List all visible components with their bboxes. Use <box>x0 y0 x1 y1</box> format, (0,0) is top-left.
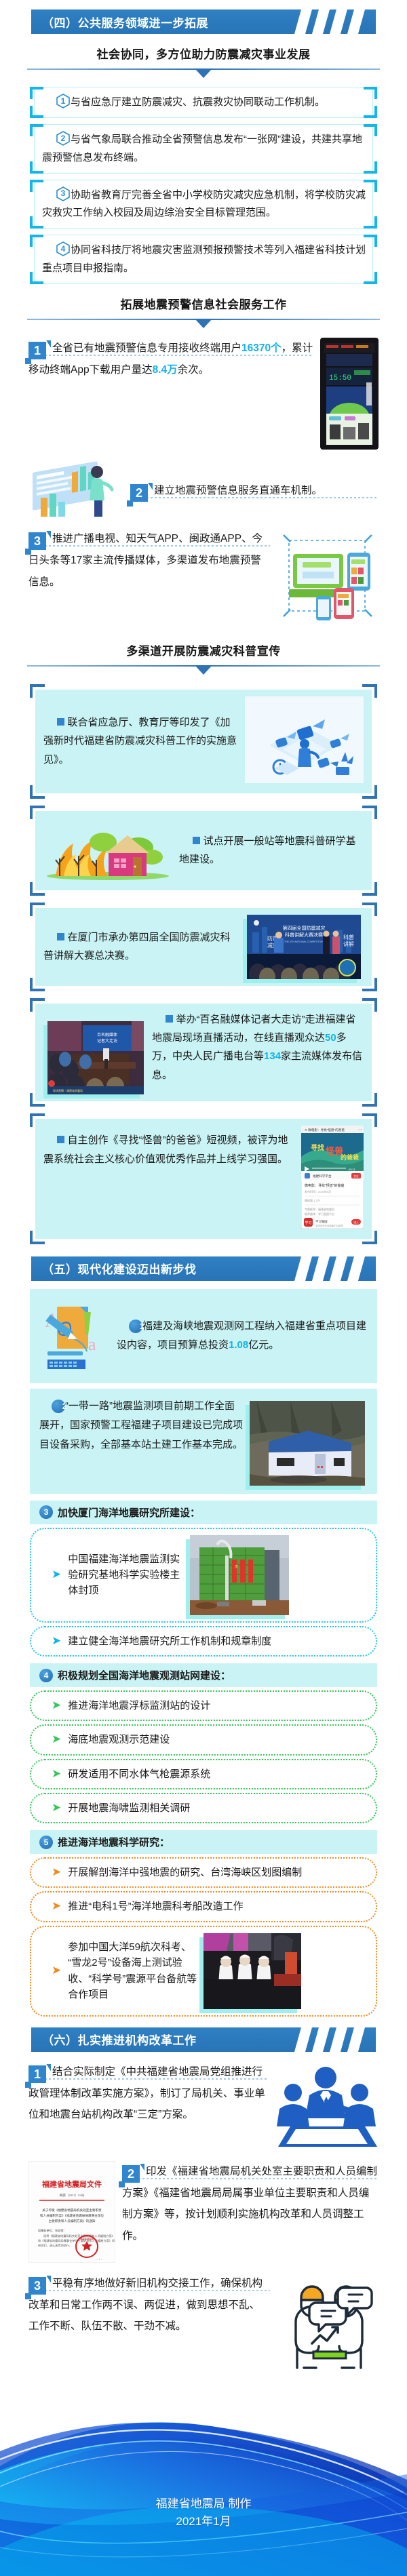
hexagon-number-icon: 1 <box>56 94 70 108</box>
text-run: 平稳有序地做好新旧机构交接工作，确保机构改革和日常工作两不误、两促进，做到思想不… <box>28 2278 263 2333</box>
circle-number-badge: 4 <box>39 1669 53 1682</box>
section5-group-5-item-2: ➤ 推进“电科1号”海洋地震科考船改造工作 <box>30 1891 377 1922</box>
circle-number-badge: 5 <box>39 1836 53 1849</box>
card-bottom-line <box>34 283 373 284</box>
chevron-right-icon: ➤ <box>52 1633 61 1649</box>
card-top-line <box>34 235 373 235</box>
item-text: 海底地震观测示范建设 <box>68 1732 366 1747</box>
corner-bracket-icon <box>30 161 43 174</box>
section-banner-five-title: （五）现代化建设迈出新步伐 <box>31 1260 197 1277</box>
svg-text:✕ 微电影：寻找"怪兽"的爸爸: ✕ 微电影：寻找"怪兽"的爸爸 <box>305 1128 345 1132</box>
divider-rule <box>27 66 380 81</box>
text-run: 建立地震预警信息服务直通车机制。 <box>154 485 322 496</box>
square-bullet-icon <box>166 1015 173 1023</box>
item-text: 建立健全海洋地震研究所工作机制和规章制度 <box>68 1633 366 1649</box>
circle-number-badge: 3 <box>39 1505 53 1519</box>
construction-site-photo: 庆 <box>190 1535 289 1615</box>
group-title: 加快厦门海洋地震研究所建设： <box>58 1505 200 1520</box>
card-top-line <box>34 124 373 125</box>
warning-service-item-3: 3推进广播电视、知天气APP、闽政通APP、今日头条等17家主流传播媒体，多渠道… <box>28 528 379 627</box>
corner-bracket-icon <box>30 124 43 136</box>
highlight-value: 134 <box>264 1050 281 1062</box>
card-inner: 试点开展一般站等地震科普研学基地建设。 <box>35 811 372 890</box>
number-badge: 1 <box>28 342 46 359</box>
text-run: 结合实际制定《中共福建省地震局党组推进行政管理体制改革实施方案》，制订了局机关、… <box>28 2066 265 2121</box>
card-text: 与省气象局联合推动全省预警信息发布“一张网”建设，共建共享地震预警信息发布终端。 <box>42 134 362 163</box>
footer-credit: 福建省地震局 制作 2021年1月 <box>0 2495 407 2531</box>
section5-group-4-header: 4 积极规划全国海洋地震观测站网建设： <box>30 1663 377 1687</box>
section-banner-six: （六）扎实推进机构改革工作 <box>31 2027 376 2052</box>
card-inner: 自主创作《寻找“怪兽”的爸爸》短视频，被评为地震系统社会主义核心价值观优秀作品并… <box>35 1119 372 1239</box>
svg-text:百名融媒体: 百名融媒体 <box>97 1032 117 1037</box>
svg-text:进入: 进入 <box>353 1221 359 1224</box>
number-badge: 3 <box>28 2277 46 2295</box>
card-bottom-line <box>34 228 373 229</box>
section5-group-3-item-1: ➤ 中国福建海洋地震监测实验研究基地科学实验楼主体封顶 庆 <box>30 1528 377 1623</box>
bottom-spacer <box>0 2379 407 2386</box>
hexagon-number-icon: 2 <box>56 131 70 146</box>
design-tools-illustration: A a <box>39 1297 110 1375</box>
hexagon-number-icon: 4 <box>56 241 70 256</box>
divider-rule <box>27 662 380 677</box>
chevron-right-icon: ➤ <box>52 1766 61 1782</box>
svg-text:和人员编制方案》《福建省地震局局属事业单位: 和人员编制方案》《福建省地震局局属事业单位 <box>40 2213 104 2218</box>
item-text: 2“一带一路”地震监测项目前期工作全面展开，国家预警工程福建子项目建设已完成项目… <box>39 1397 243 1455</box>
photo-image: 第四届全国防震减灾 科普讲解大赛决赛 THE 4TH NATIONAL COMP… <box>247 915 361 979</box>
item-text: 2印发《福建省地震局机关处室主要职责和人员编制方案》《福建省地震局局属事业单位主… <box>122 2161 379 2248</box>
number-badge: 1 <box>28 2065 46 2083</box>
card-body: 2 与省气象局联合推动全省预警信息发布“一张网”建设，共建共享地震预警信息发布终… <box>42 131 366 167</box>
square-bullet-icon <box>57 1136 64 1143</box>
section5-group-5-item-1: ➤ 开展解剖海洋中强地震的研究、台湾海峡区划图编制 <box>30 1857 377 1888</box>
chevron-right-icon: ➤ <box>52 1567 61 1583</box>
divider-caret-icon <box>195 68 212 78</box>
short-video-app-screenshot: ✕ 微电影：寻找"怪兽"的爸爸 ⋯ 寻找 怪兽 的爸爸 05:11 福建科学平台… <box>301 1126 364 1232</box>
section5-group-4-item-2: ➤ 海底地震观测示范建设 <box>30 1724 377 1755</box>
svg-text:⋯: ⋯ <box>358 1128 362 1132</box>
circle-number-badge: 1 <box>129 1320 142 1333</box>
science-popularization-item-5: 自主创作《寻找“怪兽”的爸爸》短视频，被评为地震系统社会主义核心价值观优秀作品并… <box>30 1113 377 1244</box>
divider-caret-icon <box>195 665 212 675</box>
chevron-right-icon: ➤ <box>52 1698 61 1713</box>
svg-text:全国优秀作品展播平台推荐: 全国优秀作品展播平台推荐 <box>315 1224 343 1227</box>
group-title: 积极规划全国海洋地震观测站网建设： <box>58 1668 231 1682</box>
section6-item-2: 福建省地震局文件 闽震〔2021〕04号 关于印发《福建省地震局机关处室主要职责… <box>28 2161 379 2266</box>
contest-stage-photo: 第四届全国防震减灾 科普讲解大赛决赛 THE 4TH NATIONAL COMP… <box>247 915 361 979</box>
svg-text:科普: 科普 <box>343 934 354 940</box>
svg-text:发布时间：2020年5月: 发布时间：2020年5月 <box>305 1189 331 1193</box>
section5-item-1: A a 1福建及海峡地震观测网工程纳入福建省重点项目建设内容，项目预算总投资1.… <box>30 1289 377 1383</box>
item-text: 自主创作《寻找“怪兽”的爸爸》短视频，被评为地震系统社会主义核心价值观优秀作品并… <box>43 1126 294 1169</box>
bracket-card: 2 与省气象局联合推动全省预警信息发布“一张网”建设，共建共享地震预警信息发布终… <box>30 124 377 174</box>
svg-text:现场直播｜福建省地震局: 现场直播｜福建省地震局 <box>53 1088 83 1092</box>
science-popularization-item-3: 在厦门市承办第四届全国防震减灾科普讲解大赛总决赛。 第四届全国防震减灾 科普讲解… <box>30 903 377 991</box>
section-banner-six-title: （六）扎实推进机构改革工作 <box>31 2031 197 2048</box>
banner-slashes-icon <box>294 2027 376 2052</box>
svg-text:关于印发《福建省地震局机关处室主要职责: 关于印发《福建省地震局机关处室主要职责 <box>42 2208 102 2213</box>
card-top-line <box>34 180 373 180</box>
square-bullet-icon <box>57 933 64 940</box>
square-bullet-icon <box>193 837 200 844</box>
photo-image: 庆 <box>190 1535 289 1615</box>
text-run: 联合省应急厅、教育厅等印发了《加强新时代福建省防震减灾科普工作的实施意见》。 <box>43 717 237 766</box>
svg-text:寻找: 寻找 <box>311 1143 324 1152</box>
svg-text:THE 4TH NATIONAL COMPETITION: THE 4TH NATIONAL COMPETITION <box>284 940 324 943</box>
card-inner: 百名融媒体 记者大走访 <box>35 1004 372 1101</box>
card-text: 与省应急厅建立防震减灾、抗震救灾协同联动工作机制。 <box>71 96 325 108</box>
photo-image: 百名融媒体 记者大走访 <box>47 1021 144 1094</box>
item-text: 1福建及海峡地震观测网工程纳入福建省重点项目建设内容，项目预算总投资1.08亿元… <box>117 1317 368 1355</box>
card-inner: 联合省应急厅、教育厅等印发了《加强新时代福建省防震减灾科普工作的实施意见》。 <box>35 690 372 793</box>
highlight-value: 1.08 <box>229 1339 248 1351</box>
svg-text:现将《福建省地震局机关处室主要职责和人员编制方案》: 现将《福建省地震局机关处室主要职责和人员编制方案》 <box>43 2234 115 2238</box>
discussion-people-icon <box>277 2273 379 2377</box>
number-badge: 3 <box>28 532 46 550</box>
item-text: 1全省已有地震预警信息专用接收终端用户16370个，累计移动终端App下载用户量… <box>28 338 313 382</box>
text-run: 印发《福建省地震局机关处室主要职责和人员编制方案》《福建省地震局局属事业单位主要… <box>122 2166 377 2242</box>
footer-wave-graphic <box>0 2386 407 2576</box>
text-run: “一带一路”地震监测项目前期工作全面展开，国家预警工程福建子项目建设已完成项目设… <box>39 1400 243 1450</box>
number-badge: 2 <box>130 484 148 502</box>
svg-text:闽震〔2021〕04号: 闽震〔2021〕04号 <box>60 2193 85 2198</box>
item-text: 3推进广播电视、知天气APP、闽政通APP、今日头条等17家主流传播媒体，多渠道… <box>28 528 270 594</box>
item-text: 3平稳有序地做好新旧机构交接工作，确保机构改革和日常工作两不误、两促进，做到思想… <box>28 2273 270 2339</box>
item-text: 举办“百名融媒体记者大走访”走进福建省地震局现场直播活动，在线直播观众达50多万… <box>152 1010 364 1084</box>
subheading-social-collaboration: 社会协同，多方位助力防震减灾事业发展 <box>0 45 407 62</box>
meeting-people-icon <box>275 2061 379 2154</box>
section5-group-4-item-4: ➤ 开展地震海啸监测相关调研 <box>30 1793 377 1823</box>
svg-text:05:11: 05:11 <box>349 1168 355 1171</box>
bracket-card: 1 与省应急厅建立防震减灾、抗震救灾协同联动工作机制。 <box>30 87 377 118</box>
section-banner-four-title: （四）公共服务领域进一步拓展 <box>31 14 208 31</box>
wildfire-house-illustration <box>43 818 172 884</box>
card-bottom-line <box>34 173 373 174</box>
item-text: 开展解剖海洋中强地震的研究、台湾海峡区划图编制 <box>68 1865 366 1880</box>
hexagon-number-icon: 3 <box>56 186 70 201</box>
svg-text:第四届全国防震减灾: 第四届全国防震减灾 <box>283 925 326 931</box>
corner-bracket-icon <box>30 87 43 99</box>
subheading-science-popularization: 多渠道开展防震减灾科普宣传 <box>0 641 407 658</box>
banner-slashes-icon <box>294 9 376 34</box>
warning-service-item-1: 1全省已有地震预警信息专用接收终端用户16370个，累计移动终端App下载用户量… <box>28 338 379 453</box>
laptop-and-phones-illustration <box>277 528 379 627</box>
divider-rule <box>27 316 380 331</box>
data-dashboard-illustration <box>28 458 123 524</box>
highlight-value: 16370个 <box>241 342 282 354</box>
bracket-card: 4 协同省科技厅将地震灾害监测预报预警技术等列入福建省科技计划重点项目申报指南。 <box>30 235 377 284</box>
corner-bracket-icon <box>30 106 43 118</box>
infographic-page: （四）公共服务领域进一步拓展 社会协同，多方位助力防震减灾事业发展 1 与省应急… <box>0 0 407 2576</box>
science-popularization-item-4: 百名融媒体 记者大走访 <box>30 998 377 1107</box>
item-text: 在厦门市承办第四届全国防震减灾科普讲解大赛总决赛。 <box>43 928 240 966</box>
card-text: 协助省教育厅完善全省中小学校防灾减灾应急机制，将学校防灾减灾救灾工作纳入校园及周… <box>42 189 366 218</box>
text-run: 自主创作《寻找“怪兽”的爸爸》短视频，被评为地震系统社会主义核心价值观优秀作品并… <box>43 1134 288 1165</box>
item-text: 开展地震海啸监测相关调研 <box>68 1800 366 1816</box>
divider-caret-icon <box>195 319 212 328</box>
corner-bracket-icon <box>30 272 43 284</box>
isometric-teamwork-illustration <box>245 696 364 787</box>
svg-text:专题推荐：福建省地震局: 专题推荐：福建省地震局 <box>305 1207 334 1211</box>
photo-image <box>250 1401 365 1486</box>
svg-text:的爸爸: 的爸爸 <box>341 1153 359 1161</box>
svg-text:学习强国: 学习强国 <box>315 1219 328 1224</box>
research-crew-photo <box>203 1933 301 2009</box>
svg-text:播放量 1.2万: 播放量 1.2万 <box>305 1198 320 1202</box>
text-run: 推进广播电视、知天气APP、闽政通APP、今日头条等17家主流传播媒体，多渠道发… <box>28 533 263 588</box>
chevron-right-icon: ➤ <box>52 1732 61 1747</box>
card-body: 1 与省应急厅建立防震减灾、抗震救灾协同联动工作机制。 <box>42 94 366 111</box>
section5-group-3-header: 3 加快厦门海洋地震研究所建设： <box>30 1501 377 1524</box>
chevron-right-icon: ➤ <box>52 1899 61 1914</box>
card-body: 4 协同省科技厅将地震灾害监测预报预警技术等列入福建省科技计划重点项目申报指南。 <box>42 241 366 277</box>
footer-credit-line1: 福建省地震局 制作 <box>0 2495 407 2513</box>
text-run: 试点开展一般站等地震科普研学基地建设。 <box>179 835 356 866</box>
science-popularization-item-2: 试点开展一般站等地震科普研学基地建设。 <box>30 806 377 896</box>
svg-text:庆: 庆 <box>235 1564 238 1569</box>
svg-text:局属各单位、各处室：: 局属各单位、各处室： <box>38 2228 66 2233</box>
section5-group-5-header: 5 推进海洋地震科学研究： <box>30 1830 377 1854</box>
svg-text:学习: 学习 <box>305 1221 311 1225</box>
banner-slashes-icon <box>294 1256 376 1281</box>
item-text: 研发适用不同水体气枪震源系统 <box>68 1766 366 1782</box>
seismic-station-building-photo <box>250 1401 365 1486</box>
chevron-right-icon: ➤ <box>52 1865 61 1880</box>
card-text: 协同省科技厅将地震灾害监测预报预警技术等列入福建省科技计划重点项目申报指南。 <box>42 244 366 273</box>
circle-number-badge: 2 <box>52 1400 65 1413</box>
svg-text:a: a <box>88 1334 96 1354</box>
corner-bracket-icon <box>30 180 43 192</box>
chevron-right-icon: ➤ <box>52 1800 61 1816</box>
bracket-card: 3 协助省教育厅完善全省中小学校防灾减灾应急机制，将学校防灾减灾救灾工作纳入校园… <box>30 180 377 229</box>
photo-image <box>203 1933 301 2009</box>
svg-text:推荐媒体：学习强国平台: 推荐媒体：学习强国平台 <box>305 1212 334 1216</box>
svg-text:— 1 —: — 1 — <box>95 2258 103 2261</box>
svg-text:福建省地震局: 福建省地震局 <box>80 2237 94 2240</box>
section6-item-3: 3平稳有序地做好新旧机构交接工作，确保机构改革和日常工作两不误、两促进，做到思想… <box>28 2273 379 2377</box>
document-title: 福建省地震局文件 <box>41 2179 102 2189</box>
footer-credit-line2: 2021年1月 <box>0 2513 407 2531</box>
press-conference-photo: 百名融媒体 记者大走访 <box>47 1021 144 1094</box>
official-document-photo: 福建省地震局文件 闽震〔2021〕04号 关于印发《福建省地震局机关处室主要职责… <box>28 2161 115 2266</box>
item-text: 试点开展一般站等地震科普研学基地建设。 <box>179 832 364 870</box>
corner-bracket-icon <box>30 216 43 229</box>
section5-group-4-item-3: ➤ 研发适用不同水体气枪震源系统 <box>30 1759 377 1789</box>
svg-text:15:50: 15:50 <box>329 374 351 382</box>
section-banner-five: （五）现代化建设迈出新步伐 <box>31 1256 376 1281</box>
card-body: 3 协助省教育厅完善全省中小学校防灾减灾应急机制，将学校防灾减灾救灾工作纳入校园… <box>42 186 366 222</box>
item-text: 联合省应急厅、教育厅等印发了《加强新时代福建省防震减灾科普工作的实施意见》。 <box>43 713 238 770</box>
section5-group-4-item-1: ➤ 推进海洋地震浮标监测站的设计 <box>30 1690 377 1721</box>
section6-item-1: 1结合实际制定《中共福建省地震局党组推进行政管理体制改革实施方案》，制订了局机关… <box>28 2061 379 2154</box>
card-inner: 在厦门市承办第四届全国防震减灾科普讲解大赛总决赛。 第四届全国防震减灾 科普讲解… <box>35 908 372 986</box>
svg-text:微电影：寻找"怪兽"的爸爸: 微电影：寻找"怪兽"的爸爸 <box>305 1183 345 1188</box>
item-text: 2建立地震预警信息服务直通车机制。 <box>130 480 379 502</box>
text-run: 余次。 <box>178 364 210 376</box>
svg-text:主要职责和人员编制方案》的通知: 主要职责和人员编制方案》的通知 <box>49 2219 96 2223</box>
earthquake-warning-terminal-photo: 15:50 <box>320 338 379 453</box>
subheading-warning-service: 拓展地震预警信息社会服务工作 <box>0 295 407 312</box>
item-text: 推进“电科1号”海洋地震科考船改造工作 <box>68 1899 366 1914</box>
section-banner-four: （四）公共服务领域进一步拓展 <box>31 9 376 34</box>
science-popularization-item-1: 联合省应急厅、教育厅等印发了《加强新时代福建省防震减灾科普工作的实施意见》。 <box>30 684 377 799</box>
section5-item-2: 2“一带一路”地震监测项目前期工作全面展开，国家预警工程福建子项目建设已完成项目… <box>30 1389 377 1494</box>
item-text: 推进海洋地震浮标监测站的设计 <box>68 1698 366 1713</box>
text-run: 在厦门市承办第四届全国防震减灾科普讲解大赛总决赛。 <box>43 932 231 962</box>
item-text: 1结合实际制定《中共福建省地震局党组推进行政管理体制改革实施方案》，制订了局机关… <box>28 2061 269 2127</box>
footer-wave: 福建省地震局 制作 2021年1月 <box>0 2386 407 2576</box>
item-text: 参加中国大洋59航次科考、“雪龙2号”设备海上测试验收、“科学号”震源平台备航等… <box>68 1939 197 2002</box>
warning-service-item-2: 2建立地震预警信息服务直通车机制。 <box>28 458 379 524</box>
item-text: 中国福建海洋地震监测实验研究基地科学实验楼主体封顶 <box>68 1551 183 1599</box>
group-title: 推进海洋地震科学研究： <box>58 1835 170 1849</box>
section5-group-3-item-2: ➤ 建立健全海洋地震研究所工作机制和规章制度 <box>30 1626 377 1657</box>
card-bottom-line <box>34 117 373 118</box>
svg-text:科普讲解大赛决赛: 科普讲解大赛决赛 <box>285 932 323 938</box>
card-top-line <box>34 87 373 87</box>
text-run: 亿元。 <box>248 1339 279 1351</box>
corner-bracket-icon <box>30 235 43 247</box>
section5-group-5-item-3: ➤ 参加中国大洋59航次科考、“雪龙2号”设备海上测试验收、“科学号”震源平台备… <box>30 1926 377 2017</box>
svg-text:福建科学平台: 福建科学平台 <box>313 1174 332 1178</box>
svg-text:给你们，请认真贯彻执行。: 给你们，请认真贯彻执行。 <box>38 2243 72 2248</box>
svg-text:关注: 关注 <box>353 1174 359 1178</box>
number-badge: 2 <box>122 2165 140 2183</box>
svg-text:讲解: 讲解 <box>343 940 354 947</box>
square-bullet-icon <box>57 718 64 726</box>
highlight-value: 50 <box>325 1032 336 1044</box>
text-run: 全省已有地震预警信息专用接收终端用户 <box>52 342 241 354</box>
highlight-value: 8.4万 <box>153 364 178 376</box>
svg-text:记者大走访: 记者大走访 <box>97 1038 117 1044</box>
chevron-right-icon: ➤ <box>52 1963 61 1979</box>
